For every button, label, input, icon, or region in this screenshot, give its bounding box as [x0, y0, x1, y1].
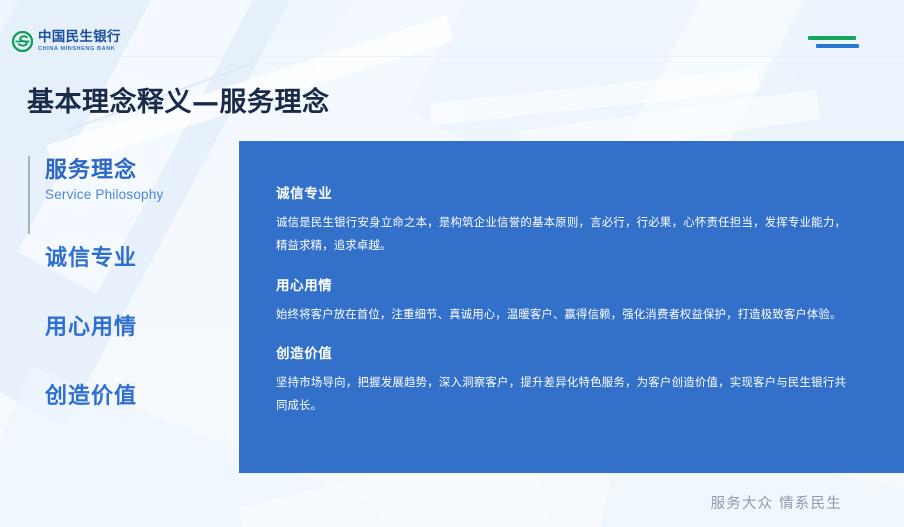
sidebar-item-label: 用心用情	[45, 315, 137, 340]
content-block-heart-and-feeling: 用心用情 始终将客户放在首位，注重细节、真诚用心，温暖客户、赢得信赖，强化消费者…	[276, 274, 846, 326]
sidebar-item-sublabel: Service Philosophy	[45, 187, 163, 202]
hamburger-menu-icon[interactable]	[808, 36, 860, 52]
bank-name-cn: 中国民生银行	[38, 31, 121, 45]
sidebar-item-integrity-professional[interactable]: 诚信专业	[45, 246, 137, 271]
bg-streak	[430, 69, 760, 125]
sidebar-item-label: 服务理念	[45, 158, 163, 183]
menu-bar-blue	[816, 44, 859, 48]
content-block-title: 用心用情	[276, 274, 846, 294]
sidebar-item-label: 诚信专业	[45, 246, 137, 271]
bank-logo: 中国民生银行 CHINA MINSHENG BANK	[12, 31, 121, 52]
content-block-title: 创造价值	[276, 342, 846, 362]
content-block-body: 坚持市场导向，把握发展趋势，深入洞察客户，提升差异化特色服务，为客户创造价值，实…	[276, 371, 846, 417]
slide-root: 中国民生银行 CHINA MINSHENG BANK 基本理念释义—服务理念 服…	[0, 0, 904, 527]
sidebar-active-rule	[28, 156, 30, 234]
sidebar-item-label: 创造价值	[45, 384, 137, 409]
content-block-create-value: 创造价值 坚持市场导向，把握发展趋势，深入洞察客户，提升差异化特色服务，为客户创…	[276, 342, 846, 417]
bank-logo-text: 中国民生银行 CHINA MINSHENG BANK	[38, 31, 121, 52]
page-title: 基本理念释义—服务理念	[27, 80, 330, 119]
content-block-body: 诚信是民生银行安身立命之本，是构筑企业信誉的基本原则，言必行，行必果，心怀责任担…	[276, 211, 846, 257]
content-panel: 诚信专业 诚信是民生银行安身立命之本，是构筑企业信誉的基本原则，言必行，行必果，…	[239, 141, 904, 473]
content-block-body: 始终将客户放在首位，注重细节、真诚用心，温暖客户、赢得信赖，强化消费者权益保护，…	[276, 303, 846, 326]
sidebar-item-service-philosophy[interactable]: 服务理念 Service Philosophy	[45, 158, 163, 202]
menu-bar-green	[808, 36, 856, 40]
slide-header: 中国民生银行 CHINA MINSHENG BANK	[0, 0, 904, 62]
footer-slogan: 服务大众 情系民生	[711, 492, 842, 513]
content-block-title: 诚信专业	[276, 182, 846, 202]
content-block-integrity-professional: 诚信专业 诚信是民生银行安身立命之本，是构筑企业信誉的基本原则，言必行，行必果，…	[276, 182, 846, 257]
minsheng-bank-s-logo-icon	[12, 31, 33, 52]
content-panel-body: 诚信专业 诚信是民生银行安身立命之本，是构筑企业信誉的基本原则，言必行，行必果，…	[276, 182, 846, 417]
sidebar-item-create-value[interactable]: 创造价值	[45, 384, 137, 409]
sidebar-item-heart-and-feeling[interactable]: 用心用情	[45, 315, 137, 340]
bank-name-en: CHINA MINSHENG BANK	[38, 47, 121, 53]
